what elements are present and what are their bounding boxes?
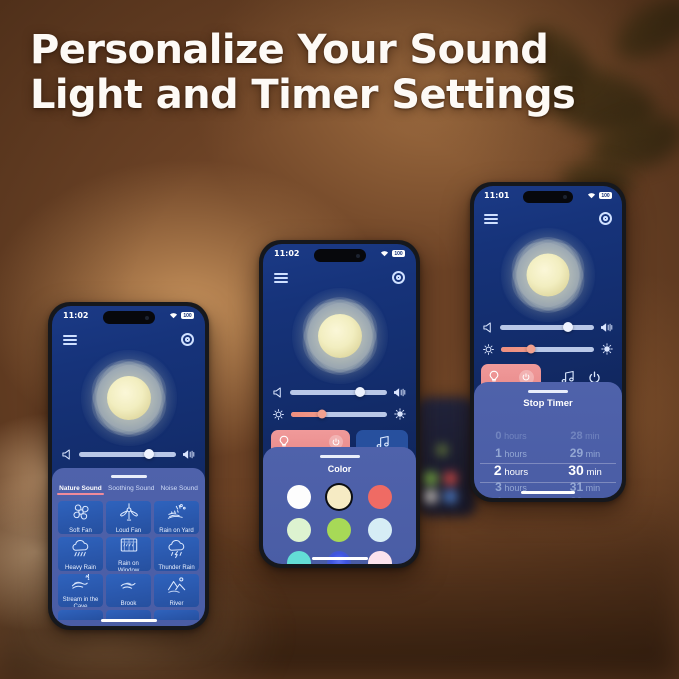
fan-icon	[69, 501, 93, 524]
headline-line-2: Light and Timer Settings	[30, 73, 570, 118]
picker-minutes-selected: 30 min	[548, 462, 622, 478]
headline-line-1: Personalize Your Sound	[30, 28, 570, 73]
gear-icon[interactable]	[599, 212, 612, 225]
sound-category-tabs: Nature Sound Soothing Sound Noise Sound	[52, 485, 205, 492]
gear-icon[interactable]	[181, 333, 194, 346]
picker-minutes: 28 min	[548, 430, 622, 442]
color-swatch-pale-pink[interactable]	[368, 551, 392, 564]
sheet-grabber[interactable]	[320, 455, 360, 458]
wifi-icon	[587, 192, 596, 199]
color-swatch-grid	[263, 485, 416, 564]
stop-timer-dialog: Stop Timer 0 hours 28 min	[474, 382, 622, 498]
rain-window-icon	[117, 537, 141, 557]
thunder-cloud-icon	[165, 537, 189, 560]
picker-row[interactable]: 1 hours 29 min	[474, 446, 622, 462]
volume-high-icon	[183, 449, 195, 460]
app-top-bar	[52, 333, 205, 346]
sheet-grabber[interactable]	[111, 475, 147, 478]
glowing-lamp-orb	[81, 350, 177, 446]
phone-left: 11:02 100	[48, 302, 209, 630]
color-swatch-white[interactable]	[287, 485, 311, 509]
phone-notch	[314, 249, 366, 262]
color-swatch-cream[interactable]	[327, 485, 351, 509]
sound-grid: Soft Fan Loud Fan	[58, 501, 199, 620]
tab-nature-sound[interactable]: Nature Sound	[59, 485, 102, 492]
sound-tile-rain-on-window[interactable]: Rain on Window	[106, 537, 151, 570]
phone-right: 11:01 100	[470, 182, 626, 502]
picker-hours: 1 hours	[474, 446, 548, 460]
heavy-rain-cloud-icon	[69, 537, 93, 560]
status-time: 11:02	[274, 249, 299, 258]
brook-icon	[117, 574, 141, 597]
brightness-slider[interactable]	[483, 341, 613, 357]
battery-icon: 100	[392, 250, 405, 257]
volume-slider[interactable]	[483, 319, 613, 335]
phone-notch	[523, 191, 573, 203]
sound-tile-stream-in-the-cave[interactable]: Stream in the Cave	[58, 574, 103, 607]
color-swatch-lime-green[interactable]	[327, 518, 351, 542]
sound-tile-brook[interactable]: Brook	[106, 574, 151, 607]
color-swatch-coral-red[interactable]	[368, 485, 392, 509]
timer-picker[interactable]: 0 hours 28 min 1 hours	[474, 430, 622, 498]
tab-soothing-sound[interactable]: Soothing Sound	[108, 485, 154, 492]
color-swatch-pale-green[interactable]	[287, 518, 311, 542]
page-title: Personalize Your Sound Light and Timer S…	[30, 28, 570, 118]
stop-timer-title: Stop Timer	[474, 398, 622, 409]
sheet-grabber[interactable]	[528, 390, 568, 393]
picker-hours: 4 hours	[474, 496, 548, 498]
ceiling-fan-icon	[117, 501, 141, 524]
volume-slider[interactable]	[273, 384, 406, 400]
status-time: 11:02	[63, 311, 88, 320]
picker-minutes: 32 min	[548, 496, 622, 498]
battery-label: 100	[601, 193, 609, 199]
picker-hours-selected: 2 hours	[474, 462, 548, 478]
picker-minutes: 29 min	[548, 446, 622, 460]
brightness-low-icon	[483, 344, 494, 355]
brightness-low-icon	[273, 409, 284, 420]
glowing-lamp-orb	[501, 228, 595, 322]
app-top-bar	[263, 271, 416, 284]
hamburger-menu-icon[interactable]	[63, 335, 77, 345]
brightness-high-icon	[601, 343, 613, 355]
river-mountain-icon	[165, 574, 189, 597]
tab-noise-sound[interactable]: Noise Sound	[161, 485, 198, 492]
rain-yard-icon	[165, 501, 189, 524]
battery-label: 100	[394, 251, 402, 257]
color-swatch-turquoise[interactable]	[287, 551, 311, 564]
wifi-icon	[169, 312, 178, 319]
sound-tile-loud-fan[interactable]: Loud Fan	[106, 501, 151, 534]
gear-icon[interactable]	[392, 271, 405, 284]
sound-tile-river[interactable]: River	[154, 574, 199, 607]
brightness-high-icon	[394, 408, 406, 420]
sound-sheet: Nature Sound Soothing Sound Noise Sound	[52, 468, 205, 626]
background-blurred-phone	[416, 398, 476, 516]
volume-high-icon	[394, 387, 406, 398]
battery-icon: 100	[181, 312, 194, 319]
volume-low-icon	[62, 449, 72, 460]
color-swatch-pale-blue[interactable]	[368, 518, 392, 542]
battery-label: 100	[183, 313, 191, 319]
home-indicator	[101, 619, 157, 622]
volume-slider[interactable]	[62, 446, 195, 462]
sound-tile-thunder-rain[interactable]: Thunder Rain	[154, 537, 199, 570]
hamburger-menu-icon[interactable]	[484, 214, 498, 224]
phone-middle: 11:02 100	[259, 240, 420, 568]
sound-tile-partial[interactable]	[58, 610, 103, 620]
sound-tile-soft-fan[interactable]: Soft Fan	[58, 501, 103, 534]
volume-low-icon	[273, 387, 283, 398]
app-top-bar	[474, 212, 622, 225]
volume-high-icon	[601, 322, 613, 333]
phone-notch	[103, 311, 155, 324]
sound-tile-partial[interactable]	[154, 610, 199, 620]
picker-row-selected[interactable]: 2 hours 30 min	[474, 462, 622, 480]
sound-tile-heavy-rain[interactable]: Heavy Rain	[58, 537, 103, 570]
sound-tile-rain-on-yard[interactable]: Rain on Yard	[154, 501, 199, 534]
stream-cave-icon	[69, 574, 93, 595]
battery-icon: 100	[599, 192, 612, 199]
status-time: 11:01	[484, 191, 509, 200]
hamburger-menu-icon[interactable]	[274, 273, 288, 283]
home-indicator	[312, 557, 368, 560]
brightness-slider[interactable]	[273, 406, 406, 422]
picker-row[interactable]: 0 hours 28 min	[474, 430, 622, 446]
color-sheet-title: Color	[263, 464, 416, 474]
home-indicator	[521, 491, 575, 494]
picker-row[interactable]: 4 hours 32 min	[474, 496, 622, 498]
volume-low-icon	[483, 322, 493, 333]
picker-hours: 0 hours	[474, 430, 548, 442]
color-sheet: Color	[263, 447, 416, 564]
wifi-icon	[380, 250, 389, 257]
glowing-lamp-orb	[292, 288, 388, 384]
